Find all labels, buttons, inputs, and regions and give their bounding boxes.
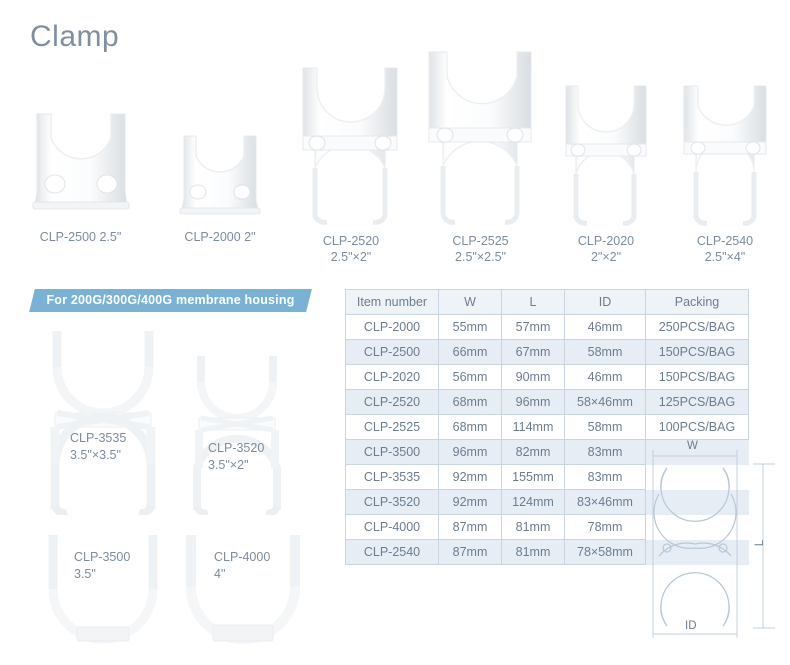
product-caption: CLP-4000 4": [214, 549, 270, 583]
cell-id: 58mm: [565, 415, 646, 440]
cell-id: 78×58mm: [565, 540, 646, 565]
cell-w: 92mm: [439, 490, 502, 515]
product-caption: CLP-2540 2.5"×4": [670, 233, 780, 265]
product-tile: CLP-4000 4": [180, 527, 308, 650]
product-caption: CLP-2000 2": [165, 229, 275, 245]
product-caption: CLP-2500 2.5": [18, 229, 143, 245]
dimension-label-w: W: [687, 440, 698, 452]
clamp-double-icon: [670, 76, 780, 233]
product-tile: CLP-2000 2": [165, 118, 275, 245]
cell-id: 46mm: [565, 365, 646, 390]
table-row: CLP-252068mm96mm58×46mm125PCS/BAG: [346, 390, 749, 415]
cell-l: 81mm: [502, 515, 565, 540]
product-tile: CLP-2540 2.5"×4": [670, 76, 780, 265]
table-header-row: Item number W L ID Packing: [346, 290, 749, 315]
clamp-single-icon: [18, 92, 143, 229]
cell-packing: 250PCS/BAG: [646, 315, 749, 340]
cell-l: 67mm: [502, 340, 565, 365]
product-tile: CLP-3535 3.5"×3.5": [38, 325, 168, 520]
clamp-double-brace-icon: [38, 325, 168, 520]
column-header-item: Item number: [346, 290, 439, 315]
clamp-single-icon: [40, 527, 168, 650]
cell-l: 96mm: [502, 390, 565, 415]
technical-drawing: W L ID: [645, 438, 785, 658]
cell-item: CLP-2000: [346, 315, 439, 340]
clamp-single-icon: [180, 527, 308, 650]
cell-w: 66mm: [439, 340, 502, 365]
clamp-double-brace-icon: [178, 350, 298, 520]
clamp-double-icon: [418, 42, 543, 233]
product-caption: CLP-3500 3.5": [74, 549, 130, 583]
product-tile: CLP-2020 2"×2": [552, 76, 660, 265]
cell-item: CLP-2525: [346, 415, 439, 440]
cell-packing: 100PCS/BAG: [646, 415, 749, 440]
cell-l: 81mm: [502, 540, 565, 565]
cell-packing: 150PCS/BAG: [646, 340, 749, 365]
clamp-double-icon: [552, 76, 660, 233]
column-header-w: W: [439, 290, 502, 315]
product-tile: CLP-3500 3.5": [40, 527, 168, 650]
cell-id: 78mm: [565, 515, 646, 540]
product-caption: CLP-2520 2.5"×2": [292, 233, 410, 265]
cell-l: 82mm: [502, 440, 565, 465]
cell-w: 96mm: [439, 440, 502, 465]
table-row: CLP-202056mm90mm46mm150PCS/BAG: [346, 365, 749, 390]
cell-item: CLP-2520: [346, 390, 439, 415]
cell-packing: 150PCS/BAG: [646, 365, 749, 390]
product-tile: CLP-3520 3.5"×2": [178, 350, 298, 520]
clamp-single-icon: [165, 118, 275, 229]
cell-l: 155mm: [502, 465, 565, 490]
cell-item: CLP-2500: [346, 340, 439, 365]
cell-l: 57mm: [502, 315, 565, 340]
cell-l: 124mm: [502, 490, 565, 515]
cell-packing: 125PCS/BAG: [646, 390, 749, 415]
cell-item: CLP-3535: [346, 465, 439, 490]
cell-id: 83mm: [565, 440, 646, 465]
cell-item: CLP-2020: [346, 365, 439, 390]
column-header-packing: Packing: [646, 290, 749, 315]
product-tile: CLP-2520 2.5"×2": [292, 58, 410, 265]
cell-id: 46mm: [565, 315, 646, 340]
table-row: CLP-250066mm67mm58mm150PCS/BAG: [346, 340, 749, 365]
cell-id: 58×46mm: [565, 390, 646, 415]
page-title: Clamp: [30, 20, 119, 54]
membrane-housing-banner: For 200G/300G/400G membrane housing: [29, 289, 312, 312]
clamp-double-icon: [292, 58, 410, 233]
product-caption: CLP-3535 3.5"×3.5": [70, 430, 126, 464]
table-row: CLP-252568mm114mm58mm100PCS/BAG: [346, 415, 749, 440]
cell-item: CLP-2540: [346, 540, 439, 565]
cell-item: CLP-4000: [346, 515, 439, 540]
cell-w: 87mm: [439, 515, 502, 540]
product-caption: CLP-3520 3.5"×2": [208, 440, 264, 474]
cell-w: 68mm: [439, 415, 502, 440]
cell-w: 55mm: [439, 315, 502, 340]
product-tile: CLP-2500 2.5": [18, 92, 143, 245]
cell-w: 56mm: [439, 365, 502, 390]
table-row: CLP-200055mm57mm46mm250PCS/BAG: [346, 315, 749, 340]
column-header-id: ID: [565, 290, 646, 315]
dimension-label-id: ID: [685, 620, 697, 632]
product-caption: CLP-2525 2.5"×2.5": [418, 233, 543, 265]
cell-item: CLP-3500: [346, 440, 439, 465]
cell-l: 114mm: [502, 415, 565, 440]
product-tile: CLP-2525 2.5"×2.5": [418, 42, 543, 265]
banner-label: For 200G/300G/400G membrane housing: [32, 289, 309, 312]
column-header-l: L: [502, 290, 565, 315]
cell-w: 92mm: [439, 465, 502, 490]
product-caption: CLP-2020 2"×2": [552, 233, 660, 265]
cell-id: 58mm: [565, 340, 646, 365]
dimension-label-l: L: [754, 540, 766, 546]
cell-w: 87mm: [439, 540, 502, 565]
cell-w: 68mm: [439, 390, 502, 415]
cell-id: 83mm: [565, 465, 646, 490]
cell-item: CLP-3520: [346, 490, 439, 515]
cell-l: 90mm: [502, 365, 565, 390]
cell-id: 83×46mm: [565, 490, 646, 515]
